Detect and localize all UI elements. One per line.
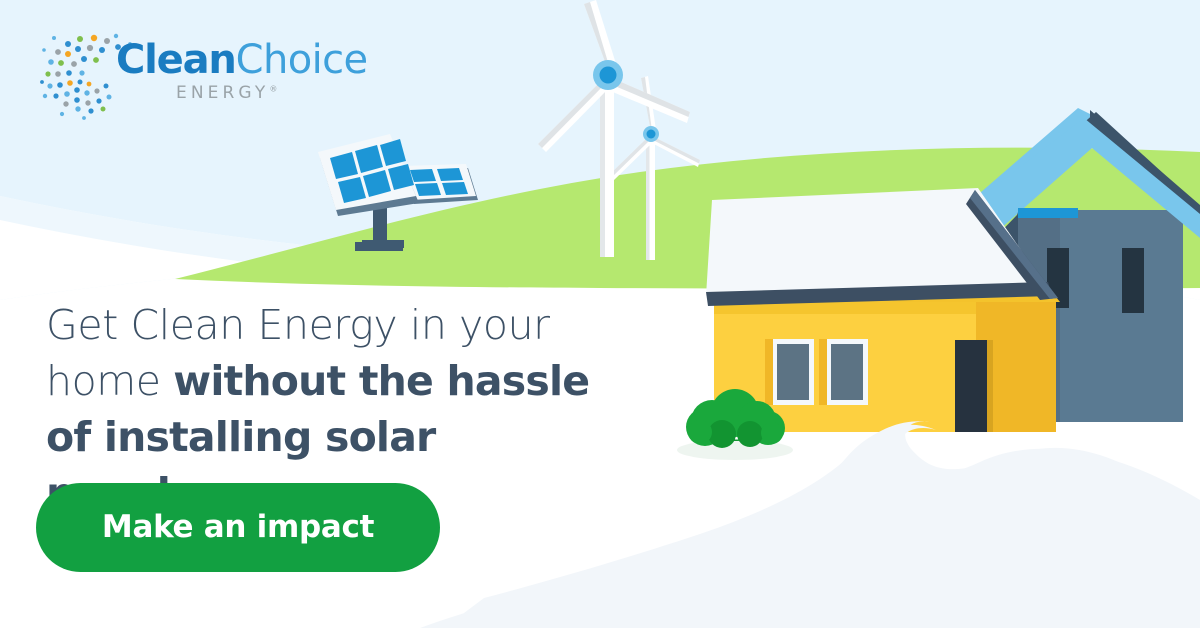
headline-line-1: Get Clean Energy in your [46,301,550,349]
logo-wordmark: CleanChoice [116,40,368,80]
headline-line-2-bold: without the hassle [173,357,589,405]
promo-banner: CleanChoice ENERGY® Get Clean Energy in … [0,0,1200,628]
registered-mark-icon: ® [269,85,277,94]
make-an-impact-button[interactable]: Make an impact [36,483,440,572]
headline-line-2-light: home [46,357,173,405]
logo-tagline-row: ENERGY® [176,85,277,102]
logo-word-clean: Clean [116,37,236,83]
logo-tagline: ENERGY [176,83,269,103]
logo-word-choice: Choice [236,37,368,83]
brand-logo[interactable]: CleanChoice ENERGY® [0,0,300,120]
